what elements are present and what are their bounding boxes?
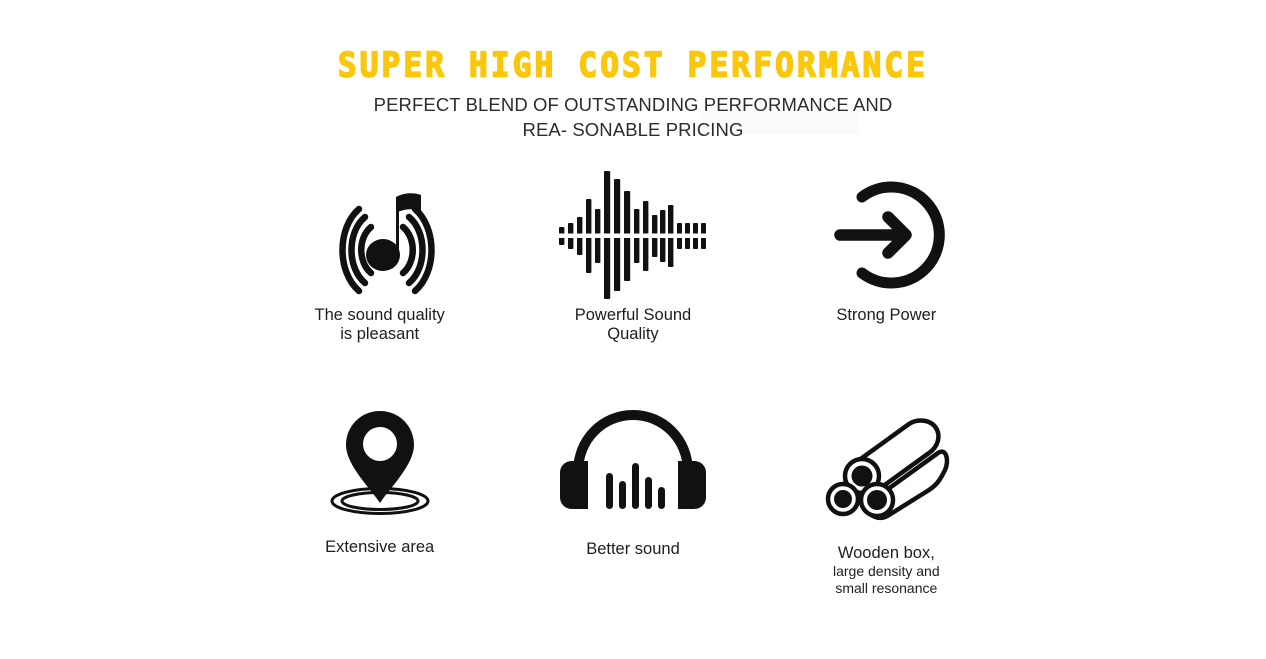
feature-item: Strong Power xyxy=(760,160,1013,382)
feature-caption: Strong Power xyxy=(836,306,936,325)
stacked-logs-icon xyxy=(821,382,951,542)
feature-caption-line-2: Quality xyxy=(575,325,692,344)
page-header: SUPER HIGH COST PERFORMANCE PERFECT BLEN… xyxy=(0,44,1266,142)
feature-caption-line-1: Wooden box, xyxy=(833,544,940,563)
feature-caption: Wooden box, large density and small reso… xyxy=(833,544,940,597)
page-subtitle-line-2: SONABLE PRICING xyxy=(572,119,743,140)
feature-caption-line-1: The sound quality xyxy=(315,306,445,325)
feature-item: Extensive area xyxy=(253,382,506,604)
map-pin-location-icon xyxy=(321,382,439,536)
audio-waveform-icon xyxy=(553,160,713,310)
feature-item: Powerful Sound Quality xyxy=(506,160,759,382)
feature-caption-line-2: large density and xyxy=(833,563,940,580)
headphones-equalizer-icon xyxy=(558,382,708,538)
feature-caption-line-1: Better sound xyxy=(586,540,680,559)
feature-caption-line-2: is pleasant xyxy=(315,325,445,344)
music-note-sound-waves-icon xyxy=(315,160,445,310)
feature-caption: Extensive area xyxy=(325,538,434,557)
feature-item: The sound quality is pleasant xyxy=(253,160,506,382)
feature-caption: Better sound xyxy=(586,540,680,559)
feature-highlights-page: SUPER HIGH COST PERFORMANCE PERFECT BLEN… xyxy=(0,0,1266,659)
page-title: SUPER HIGH COST PERFORMANCE xyxy=(0,44,1266,87)
feature-caption-line-1: Strong Power xyxy=(836,306,936,325)
feature-caption-line-3: small resonance xyxy=(833,580,940,597)
feature-caption-line-1: Powerful Sound xyxy=(575,306,692,325)
feature-caption: The sound quality is pleasant xyxy=(315,306,445,344)
feature-item: Wooden box, large density and small reso… xyxy=(760,382,1013,604)
arrow-into-circle-icon xyxy=(826,160,946,310)
feature-caption: Powerful Sound Quality xyxy=(575,306,692,344)
feature-item: Better sound xyxy=(506,382,759,604)
feature-grid: The sound quality is pleasant xyxy=(253,160,1013,604)
feature-caption-line-1: Extensive area xyxy=(325,538,434,557)
page-subtitle: PERFECT BLEND OF OUTSTANDING PERFORMANCE… xyxy=(353,92,913,142)
